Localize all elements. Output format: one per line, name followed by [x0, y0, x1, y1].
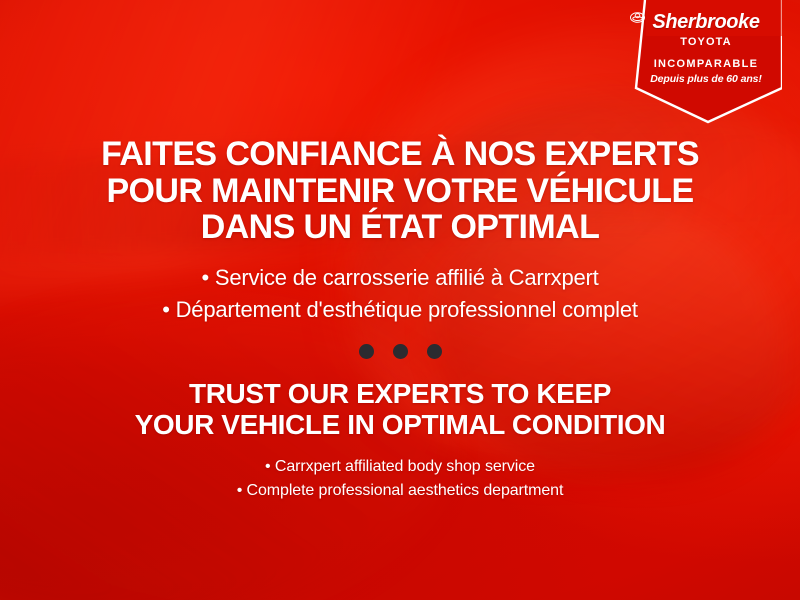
- french-headline-line-2: POUR MAINTENIR VOTRE VÉHICULE: [0, 173, 800, 210]
- dealer-logo-ribbon[interactable]: Sherbrooke TOYOTA INCOMPARABLE Depuis pl…: [630, 0, 782, 124]
- divider-dot-3: [427, 344, 442, 359]
- brand-name: TOYOTA: [680, 37, 731, 48]
- english-headline-line-1: TRUST OUR EXPERTS TO KEEP: [0, 379, 800, 410]
- dealer-tagline: Depuis plus de 60 ans!: [630, 74, 782, 85]
- french-headline-line-1: FAITES CONFIANCE À NOS EXPERTS: [0, 136, 800, 173]
- toyota-emblem-icon: [630, 12, 645, 23]
- english-bullet-1: • Carrxpert affiliated body shop service: [237, 455, 564, 480]
- dealership-promo-banner: Sherbrooke TOYOTA INCOMPARABLE Depuis pl…: [0, 0, 800, 600]
- french-bullet-2: • Département d'esthétique professionnel…: [162, 294, 638, 326]
- dot-divider: [359, 344, 442, 359]
- french-bullet-1: • Service de carrosserie affilié à Carrx…: [162, 262, 638, 294]
- brand-lockup: TOYOTA: [630, 37, 782, 48]
- english-bullet-list: • Carrxpert affiliated body shop service…: [237, 455, 564, 505]
- french-bullet-list: • Service de carrosserie affilié à Carrx…: [162, 262, 638, 326]
- french-headline: FAITES CONFIANCE À NOS EXPERTS POUR MAIN…: [0, 136, 800, 246]
- english-bullet-2: • Complete professional aesthetics depar…: [237, 479, 564, 504]
- divider-dot-2: [393, 344, 408, 359]
- divider-dot-1: [359, 344, 374, 359]
- english-headline-line-2: YOUR VEHICLE IN OPTIMAL CONDITION: [0, 410, 800, 441]
- dealer-name: Sherbrooke: [630, 12, 782, 32]
- french-headline-line-3: DANS UN ÉTAT OPTIMAL: [0, 209, 800, 246]
- dealer-slogan: INCOMPARABLE: [630, 59, 782, 70]
- english-headline: TRUST OUR EXPERTS TO KEEP YOUR VEHICLE I…: [0, 379, 800, 441]
